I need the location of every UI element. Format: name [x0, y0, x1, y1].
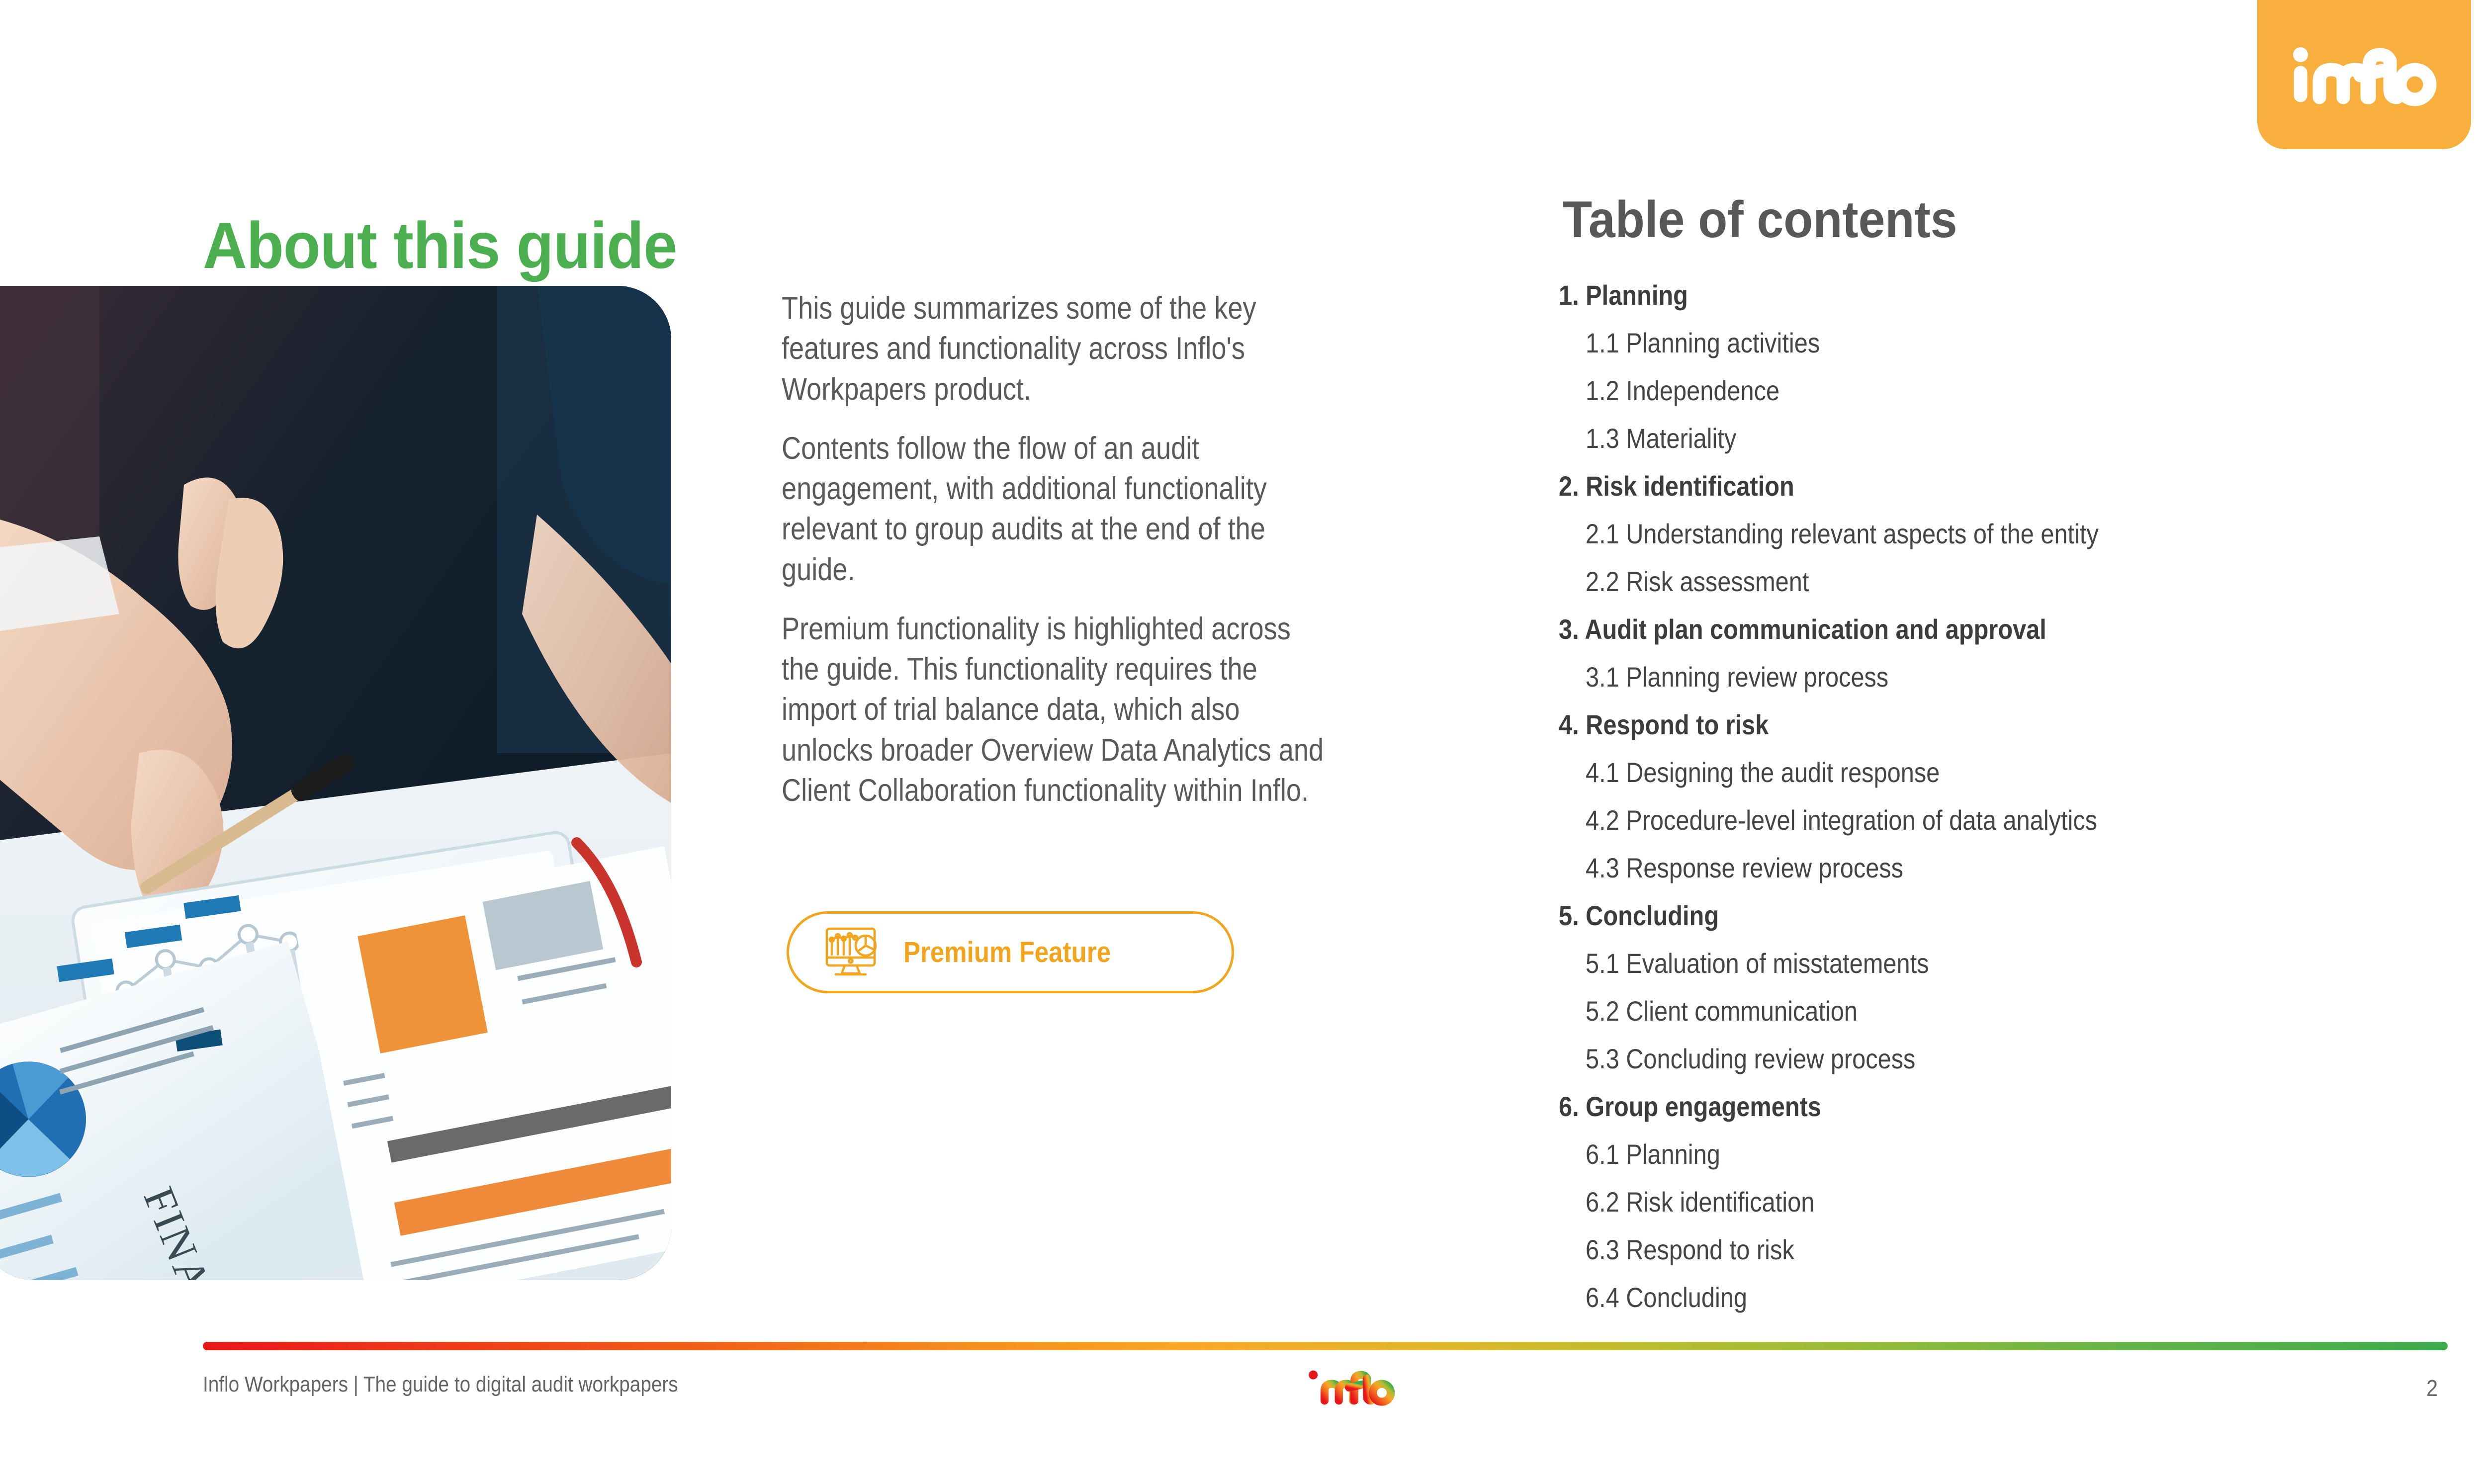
toc-entry-1[interactable]: 1. Planning: [1559, 281, 2424, 309]
intro-paragraph-3: Premium functionality is highlighted acr…: [782, 609, 1327, 811]
premium-feature-label: Premium Feature: [903, 936, 1111, 969]
intro-text-column: This guide summarizes some of the key fe…: [782, 288, 1329, 830]
intro-paragraph-1: This guide summarizes some of the key fe…: [782, 288, 1327, 410]
toc-entry-3[interactable]: 3. Audit plan communication and approval: [1559, 615, 2424, 643]
footer-inflo-logo: [1302, 1367, 1401, 1412]
footer-caption: Inflo Workpapers | The guide to digital …: [203, 1372, 678, 1397]
monitor-analytics-icon: [824, 927, 878, 978]
toc-entry-6-2[interactable]: 6.2 Risk identification: [1559, 1188, 2424, 1216]
inflo-logo-badge: [2257, 0, 2471, 149]
toc-entry-5-3[interactable]: 5.3 Concluding review process: [1559, 1045, 2424, 1073]
inflo-wordmark-icon: [2290, 42, 2439, 116]
toc-entry-6-1[interactable]: 6.1 Planning: [1559, 1140, 2424, 1168]
slide-page: About this guide: [0, 0, 2486, 1484]
toc-entry-1-1[interactable]: 1.1 Planning activities: [1559, 329, 2424, 357]
premium-feature-badge: Premium Feature: [787, 911, 1234, 993]
toc-entry-6-3[interactable]: 6.3 Respond to risk: [1559, 1236, 2424, 1264]
toc-entry-3-1[interactable]: 3.1 Planning review process: [1559, 663, 2424, 691]
page-number: 2: [2426, 1375, 2438, 1401]
toc-entry-1-2[interactable]: 1.2 Independence: [1559, 377, 2424, 405]
toc-entry-4-3[interactable]: 4.3 Response review process: [1559, 854, 2424, 882]
toc-entry-2-1[interactable]: 2.1 Understanding relevant aspects of th…: [1559, 520, 2424, 548]
hero-photo-illustration: FINANCIAL: [0, 286, 671, 1280]
toc-entry-5[interactable]: 5. Concluding: [1559, 902, 2424, 930]
toc-entry-6[interactable]: 6. Group engagements: [1559, 1093, 2424, 1121]
toc-entry-4[interactable]: 4. Respond to risk: [1559, 711, 2424, 739]
toc-entry-1-3[interactable]: 1.3 Materiality: [1559, 425, 2424, 452]
toc-list: 1. Planning 1.1 Planning activities 1.2 …: [1559, 281, 2486, 1311]
toc-entry-5-2[interactable]: 5.2 Client communication: [1559, 997, 2424, 1025]
hero-photo: FINANCIAL: [0, 286, 671, 1280]
inflo-wordmark-footer-icon: [1302, 1367, 1401, 1412]
intro-paragraph-2: Contents follow the flow of an audit eng…: [782, 429, 1327, 590]
table-of-contents: Table of contents 1. Planning 1.1 Planni…: [1559, 194, 2486, 1331]
toc-entry-4-1[interactable]: 4.1 Designing the audit response: [1559, 759, 2424, 786]
toc-entry-6-4[interactable]: 6.4 Concluding: [1559, 1284, 2424, 1311]
toc-entry-2[interactable]: 2. Risk identification: [1559, 472, 2424, 500]
toc-entry-2-2[interactable]: 2.2 Risk assessment: [1559, 568, 2424, 596]
page-title: About this guide: [203, 213, 677, 278]
footer-gradient-rule: [203, 1342, 2448, 1350]
toc-entry-4-2[interactable]: 4.2 Procedure-level integration of data …: [1559, 806, 2424, 834]
toc-heading: Table of contents: [1563, 194, 2484, 246]
toc-entry-5-1[interactable]: 5.1 Evaluation of misstatements: [1559, 950, 2424, 977]
